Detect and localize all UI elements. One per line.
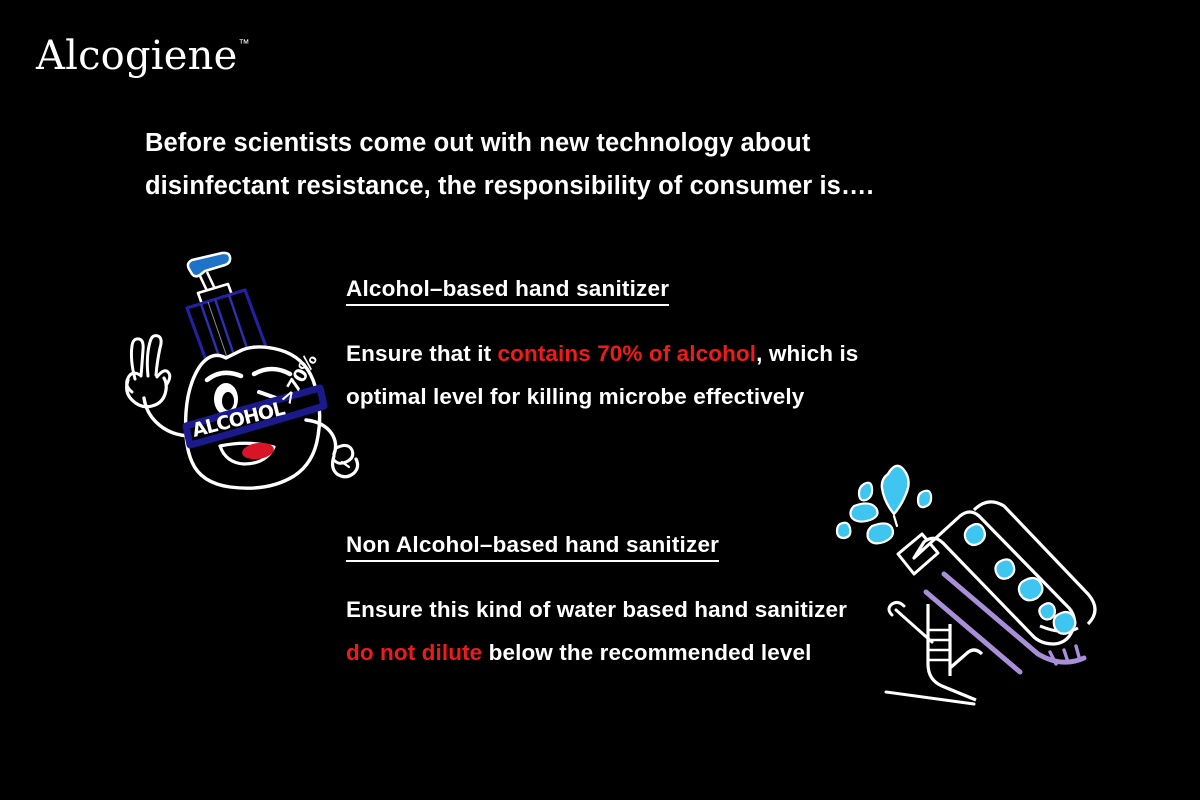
- pump-handle-icon: [188, 253, 230, 276]
- section-heading-alcohol: Alcohol–based hand sanitizer: [346, 276, 669, 306]
- section-alcohol-based: Alcohol–based hand sanitizer Ensure that…: [346, 276, 946, 418]
- spray-bottle-illustration: [826, 458, 1116, 706]
- spray-grip-icon: [886, 604, 982, 704]
- mascot-sanitizer-bottle-illustration: ALCOHOL >70%: [108, 240, 368, 502]
- section-body-alcohol: Ensure that it contains 70% of alcohol, …: [346, 332, 946, 418]
- spray-droplets-icon: [837, 466, 931, 543]
- slide-canvas: Alcogiene ™ Before scientists come out w…: [0, 0, 1200, 800]
- page-title: Before scientists come out with new tech…: [145, 122, 1005, 208]
- spray-bottle-body-icon: [914, 512, 1074, 644]
- trademark-symbol: ™: [238, 39, 249, 50]
- alcohol-body-line-2: optimal level for killing microbe effect…: [346, 375, 946, 418]
- left-arm-peace-hand-icon: [127, 336, 192, 436]
- brand-wordmark: Alcogiene: [36, 36, 237, 76]
- alcohol-body-post: , which is: [756, 341, 858, 366]
- alcohol-highlight: contains 70% of alcohol: [498, 341, 757, 366]
- spray-trigger-icon: [889, 602, 932, 642]
- brand-logo: Alcogiene ™: [36, 36, 249, 76]
- alcohol-body-line-1: Ensure that it contains 70% of alcohol, …: [346, 332, 946, 375]
- non-alcohol-body-post: below the recommended level: [482, 640, 811, 665]
- headline-line-2: disinfectant resistance, the responsibil…: [145, 165, 1005, 208]
- alcohol-body-pre: Ensure that it: [346, 341, 498, 366]
- non-alcohol-highlight: do not dilute: [346, 640, 482, 665]
- section-heading-non-alcohol: Non Alcohol–based hand sanitizer: [346, 532, 719, 562]
- headline-line-1: Before scientists come out with new tech…: [145, 122, 1005, 165]
